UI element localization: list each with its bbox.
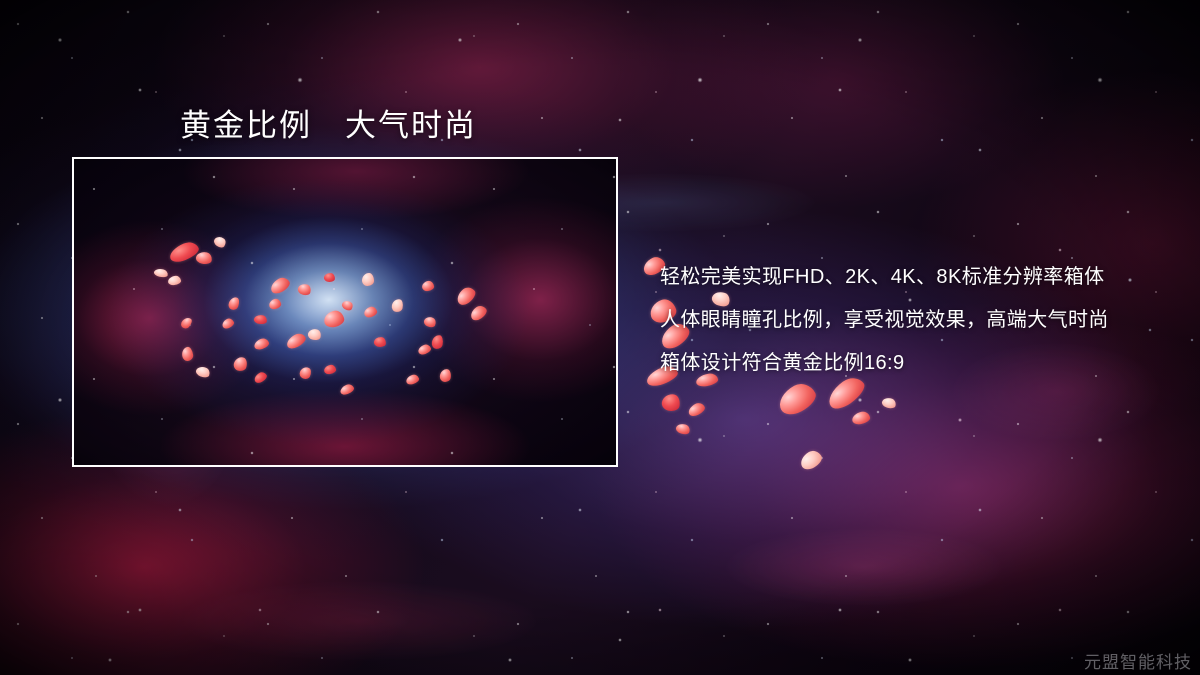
body-text-block: 轻松完美实现FHD、2K、4K、8K标准分辨率箱体 人体眼睛瞳孔比例，享受视觉效… — [660, 256, 1180, 385]
rose-petal — [661, 393, 682, 413]
photo-content — [74, 159, 616, 465]
rose-petal — [851, 410, 871, 425]
rose-petal — [686, 401, 706, 418]
rose-petal — [797, 448, 824, 473]
watermark-label: 元盟智能科技 — [1084, 648, 1192, 673]
body-line-2: 人体眼睛瞳孔比例，享受视觉效果，高端大气时尚 — [660, 299, 1180, 342]
body-line-1: 轻松完美实现FHD、2K、4K、8K标准分辨率箱体 — [660, 256, 1180, 299]
body-line-3: 箱体设计符合黄金比例16:9 — [660, 342, 1180, 385]
framed-photo — [72, 157, 618, 467]
rose-petal — [881, 396, 897, 409]
slide-canvas: 黄金比例 大气时尚 轻松完美实现FHD、2K、4K、8K标准分辨率箱体 人体眼睛… — [0, 0, 1200, 675]
rose-petal — [362, 273, 374, 286]
photo-starfield — [74, 159, 616, 465]
rose-petal — [324, 273, 336, 283]
rose-petal — [675, 422, 691, 436]
page-title: 黄金比例 大气时尚 — [180, 100, 477, 145]
